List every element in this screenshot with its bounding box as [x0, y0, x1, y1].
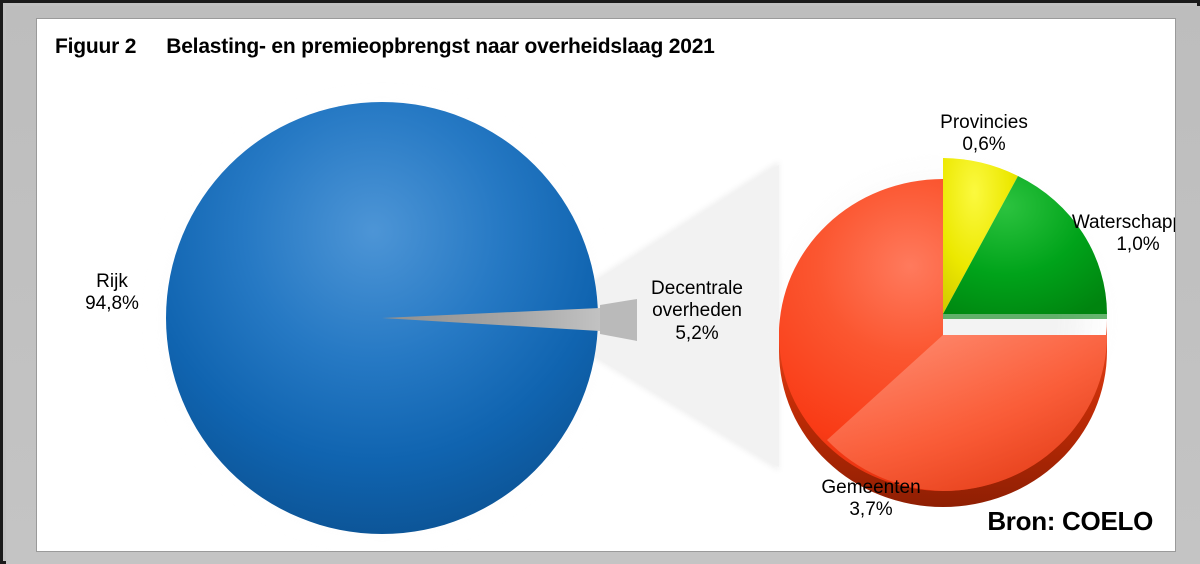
- label-decentrale-name-1: Decentrale: [623, 278, 771, 300]
- label-rijk: Rijk 94,8%: [59, 271, 165, 316]
- figure-frame: Figuur 2Belasting- en premieopbrengst na…: [0, 0, 1200, 564]
- label-waterschappen: Waterschappen 1,0%: [1049, 212, 1176, 257]
- source-note: Bron: COELO: [987, 506, 1153, 537]
- pie-chart-graphic: [37, 19, 1175, 551]
- label-rijk-value: 94,8%: [59, 293, 165, 315]
- label-provincies: Provincies 0,6%: [919, 112, 1049, 157]
- label-decentrale-overheden: Decentrale overheden 5,2%: [623, 278, 771, 345]
- label-rijk-name: Rijk: [59, 271, 165, 293]
- label-provincies-name: Provincies: [919, 112, 1049, 134]
- label-decentrale-name-2: overheden: [623, 300, 771, 322]
- label-gemeenten-value: 3,7%: [789, 499, 953, 521]
- label-gemeenten: Gemeenten 3,7%: [789, 477, 953, 522]
- figure-matte: Figuur 2Belasting- en premieopbrengst na…: [6, 6, 1200, 564]
- label-waterschappen-value: 1,0%: [1049, 234, 1176, 256]
- label-gemeenten-name: Gemeenten: [789, 477, 953, 499]
- label-waterschappen-name: Waterschappen: [1049, 212, 1176, 234]
- chart-canvas: Figuur 2Belasting- en premieopbrengst na…: [36, 18, 1176, 552]
- label-decentrale-value: 5,2%: [623, 323, 771, 345]
- label-provincies-value: 0,6%: [919, 134, 1049, 156]
